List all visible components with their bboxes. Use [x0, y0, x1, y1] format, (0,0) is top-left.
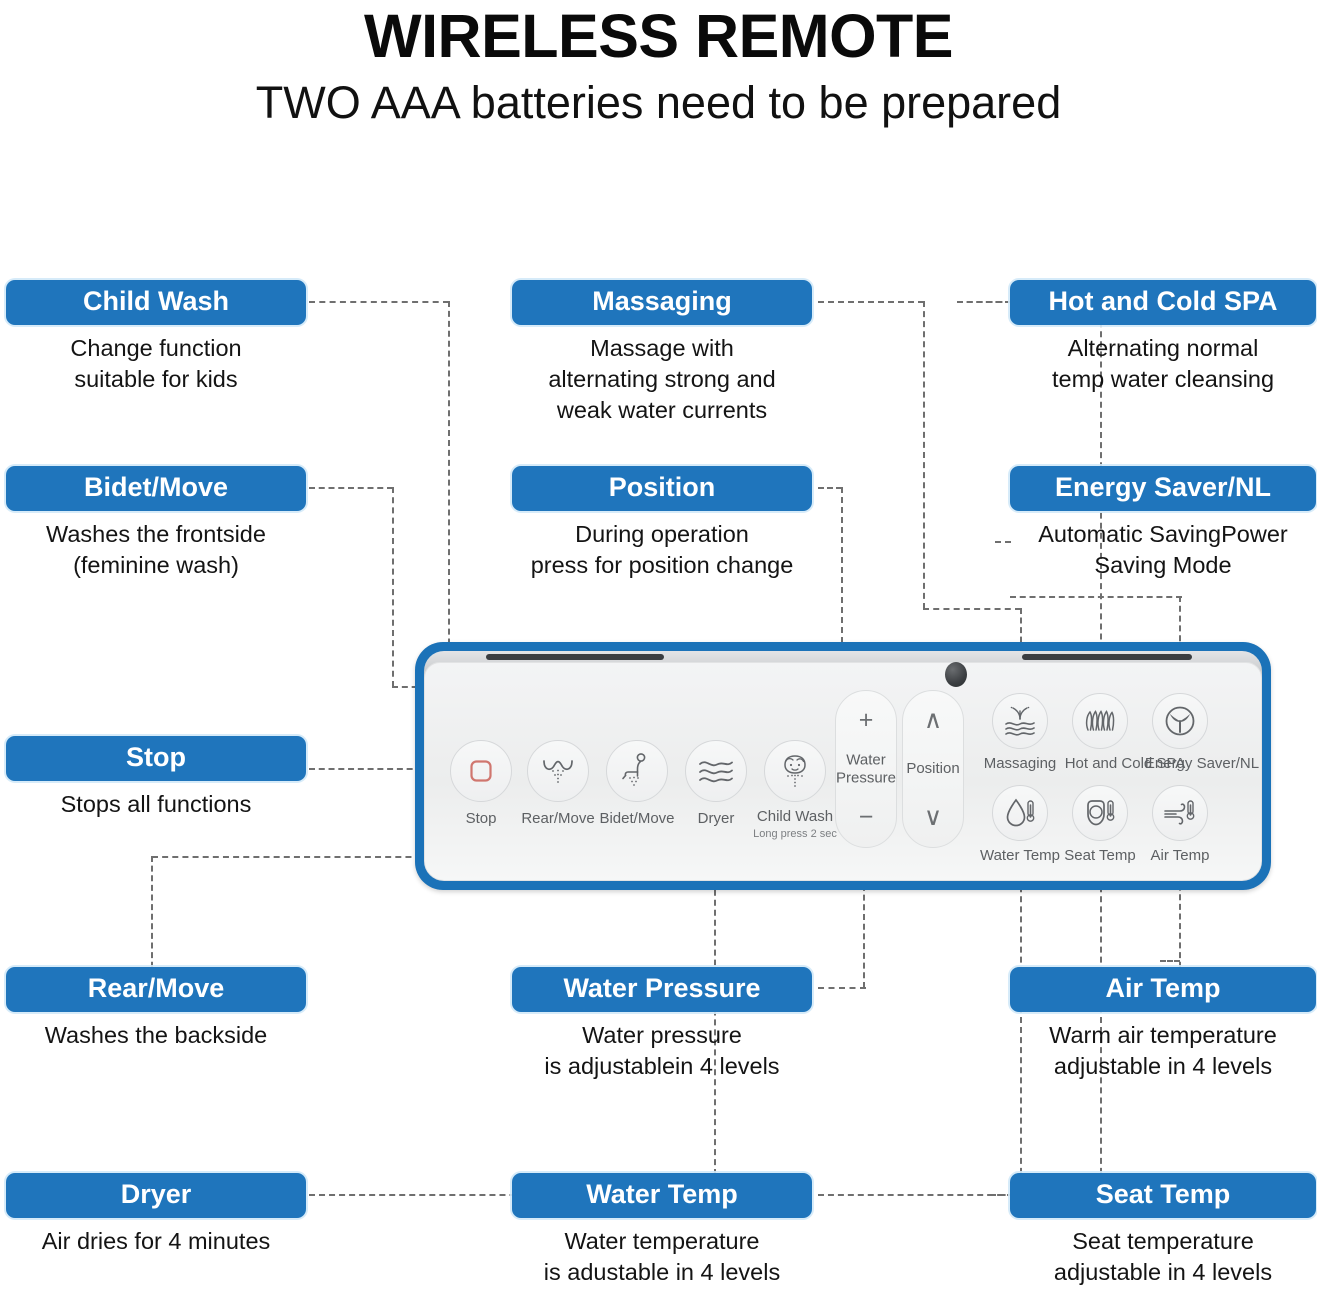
connector-spa-h1 [957, 301, 1011, 303]
callout-seat-temp: Seat Temp Seat temperature adjustable in… [1010, 1173, 1316, 1288]
massaging-icon [1003, 706, 1037, 736]
remote-label-water-pressure: Water Pressure [832, 751, 900, 786]
callout-badge-hot-cold-spa[interactable]: Hot and Cold SPA [1010, 280, 1316, 325]
callout-badge-seat-temp[interactable]: Seat Temp [1010, 1173, 1316, 1218]
callout-desc-child-wash: Change function suitable for kids [6, 333, 306, 395]
remote-button-water-pressure[interactable]: + Water Pressure − [835, 690, 897, 848]
connector-child-wash-h1 [309, 301, 449, 303]
callout-desc-bidet-move: Washes the frontside (feminine wash) [6, 519, 306, 581]
callout-water-temp: Water Temp Water temperature is adustabl… [512, 1173, 812, 1288]
callout-badge-bidet-move[interactable]: Bidet/Move [6, 466, 306, 511]
remote-button-dryer[interactable] [685, 740, 747, 802]
callout-desc-massaging: Massage with alternating strong and weak… [512, 333, 812, 426]
remote-button-rear-move[interactable] [527, 740, 589, 802]
remote-button-water-temp[interactable] [992, 785, 1048, 841]
child-wash-icon [777, 754, 813, 788]
connector-at-h1 [1160, 960, 1180, 962]
wireless-remote-device: Stop Rear/Move Bidet/Mo [415, 642, 1271, 890]
callout-massaging: Massaging Massage with alternating stron… [512, 280, 812, 426]
bevel-slot-left [486, 654, 664, 660]
connector-rear-h1 [152, 856, 452, 858]
page-header: WIRELESS REMOTE TWO AAA batteries need t… [0, 0, 1317, 130]
callout-bidet-move: Bidet/Move Washes the frontside (feminin… [6, 466, 306, 581]
callout-badge-air-temp[interactable]: Air Temp [1010, 967, 1316, 1012]
remote-button-child-wash[interactable] [764, 740, 826, 802]
callout-desc-stop: Stops all functions [6, 789, 306, 820]
ir-sensor-icon [945, 662, 967, 687]
hot-cold-spa-icon [1083, 708, 1117, 734]
connector-massaging-h2 [923, 608, 1021, 610]
remote-button-massaging[interactable] [992, 693, 1048, 749]
callout-desc-energy-saver: Automatic SavingPower Saving Mode [1010, 519, 1316, 581]
connector-energy-h1 [995, 541, 1011, 543]
remote-button-bidet-move[interactable] [606, 740, 668, 802]
bidet-wash-icon [619, 752, 655, 790]
callout-badge-position[interactable]: Position [512, 466, 812, 511]
page-title: WIRELESS REMOTE [0, 4, 1317, 68]
bevel-slot-right [1022, 654, 1192, 660]
connector-bidet-h1 [309, 487, 393, 489]
callout-badge-massaging[interactable]: Massaging [512, 280, 812, 325]
water-temp-icon [1004, 797, 1036, 829]
callout-energy-saver: Energy Saver/NL Automatic SavingPower Sa… [1010, 466, 1316, 581]
connector-position-h1 [818, 487, 842, 489]
callout-badge-water-pressure[interactable]: Water Pressure [512, 967, 812, 1012]
rear-wash-icon [540, 755, 576, 787]
callout-dryer: Dryer Air dries for 4 minutes [6, 1173, 306, 1257]
callout-stop: Stop Stops all functions [6, 736, 306, 820]
callout-desc-water-temp: Water temperature is adustable in 4 leve… [512, 1226, 812, 1288]
callout-rear-move: Rear/Move Washes the backside [6, 967, 306, 1051]
callout-desc-position: During operation press for position chan… [512, 519, 812, 581]
air-temp-icon [1163, 798, 1197, 828]
callout-desc-rear-move: Washes the backside [6, 1020, 306, 1051]
callout-desc-water-pressure: Water pressure is adjustablein 4 levels [512, 1020, 812, 1082]
connector-position-v1 [841, 487, 843, 663]
chevron-up-icon[interactable]: ∧ [903, 708, 963, 733]
chevron-down-icon[interactable]: ∨ [903, 805, 963, 830]
callout-desc-air-temp: Warm air temperature adjustable in 4 lev… [1010, 1020, 1316, 1082]
remote-label-energy-saver: Energy Saver/NL [1117, 755, 1287, 772]
connector-massaging-v1 [923, 301, 925, 609]
remote-label-position: Position [899, 760, 967, 778]
page-subtitle: TWO AAA batteries need to be prepared [0, 76, 1317, 130]
callout-badge-water-temp[interactable]: Water Temp [512, 1173, 812, 1218]
stop-square-icon [468, 758, 494, 784]
callout-desc-hot-cold-spa: Alternating normal temp water cleansing [1010, 333, 1316, 395]
callout-child-wash: Child Wash Change function suitable for … [6, 280, 306, 395]
callout-badge-rear-move[interactable]: Rear/Move [6, 967, 306, 1012]
seat-temp-icon [1084, 797, 1116, 829]
callout-water-pressure: Water Pressure Water pressure is adjusta… [512, 967, 812, 1082]
plus-icon[interactable]: + [836, 708, 896, 733]
connector-wp-h1 [818, 987, 866, 989]
remote-button-seat-temp[interactable] [1072, 785, 1128, 841]
remote-button-air-temp[interactable] [1152, 785, 1208, 841]
callout-air-temp: Air Temp Warm air temperature adjustable… [1010, 967, 1316, 1082]
minus-icon[interactable]: − [836, 805, 896, 830]
dryer-waves-icon [697, 757, 735, 785]
energy-saver-leaf-icon [1164, 705, 1196, 737]
remote-button-stop[interactable] [450, 740, 512, 802]
callout-hot-cold-spa: Hot and Cold SPA Alternating normal temp… [1010, 280, 1316, 395]
callout-desc-seat-temp: Seat temperature adjustable in 4 levels [1010, 1226, 1316, 1288]
remote-label-air-temp: Air Temp [1127, 847, 1233, 864]
remote-button-hot-cold-spa[interactable] [1072, 693, 1128, 749]
remote-button-energy-saver[interactable] [1152, 693, 1208, 749]
remote-button-position[interactable]: ∧ Position ∨ [902, 690, 964, 848]
connector-bidet-v [392, 487, 394, 687]
connector-energy-h2 [1010, 596, 1182, 598]
connector-massaging-h1 [818, 301, 924, 303]
callout-badge-child-wash[interactable]: Child Wash [6, 280, 306, 325]
connector-wt-h1 [818, 1194, 1023, 1196]
callout-position: Position During operation press for posi… [512, 466, 812, 581]
callout-badge-energy-saver[interactable]: Energy Saver/NL [1010, 466, 1316, 511]
callout-desc-dryer: Air dries for 4 minutes [6, 1226, 306, 1257]
callout-badge-stop[interactable]: Stop [6, 736, 306, 781]
callout-badge-dryer[interactable]: Dryer [6, 1173, 306, 1218]
